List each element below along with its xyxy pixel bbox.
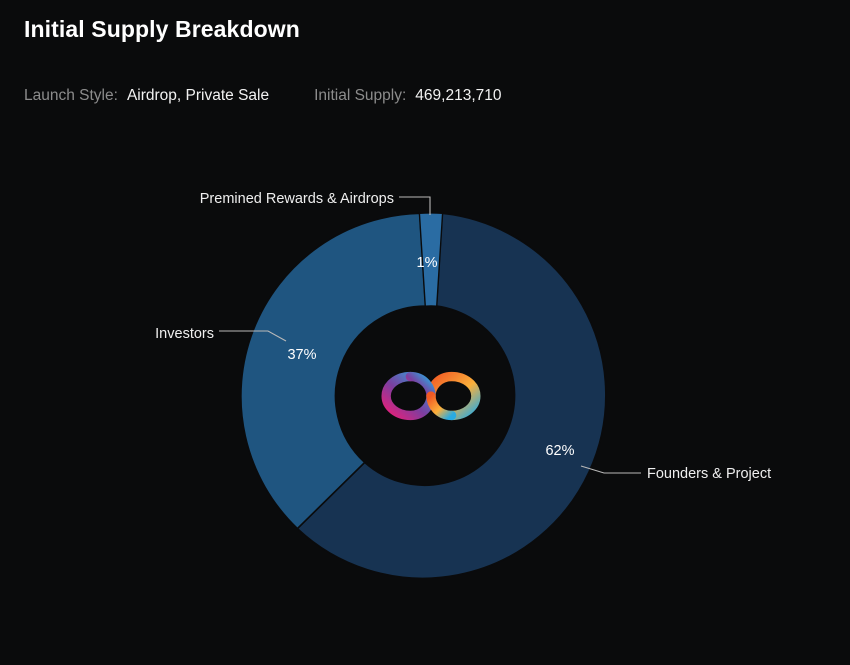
meta-initial-supply-value: 469,213,710 (415, 86, 501, 106)
category-label-premined-rewards-airdrops: Premined Rewards & Airdrops (200, 191, 394, 207)
infinity-logo-icon (386, 377, 476, 416)
meta-launch-style-value: Airdrop, Private Sale (127, 86, 269, 106)
meta-initial-supply: Initial Supply: 469,213,710 (314, 86, 501, 106)
category-label-founders-project: Founders & Project (647, 466, 771, 482)
meta-row: Launch Style: Airdrop, Private Sale Init… (24, 86, 502, 106)
meta-launch-style-label: Launch Style: (24, 86, 118, 106)
page-root: Initial Supply Breakdown Launch Style: A… (0, 0, 850, 665)
meta-launch-style: Launch Style: Airdrop, Private Sale (24, 86, 269, 106)
header: Initial Supply Breakdown Launch Style: A… (24, 12, 826, 46)
meta-initial-supply-label: Initial Supply: (314, 86, 406, 106)
donut-slices (241, 213, 606, 578)
category-label-investors: Investors (155, 326, 214, 342)
page-title: Initial Supply Breakdown (24, 12, 826, 46)
leader-line-premined (399, 197, 430, 215)
